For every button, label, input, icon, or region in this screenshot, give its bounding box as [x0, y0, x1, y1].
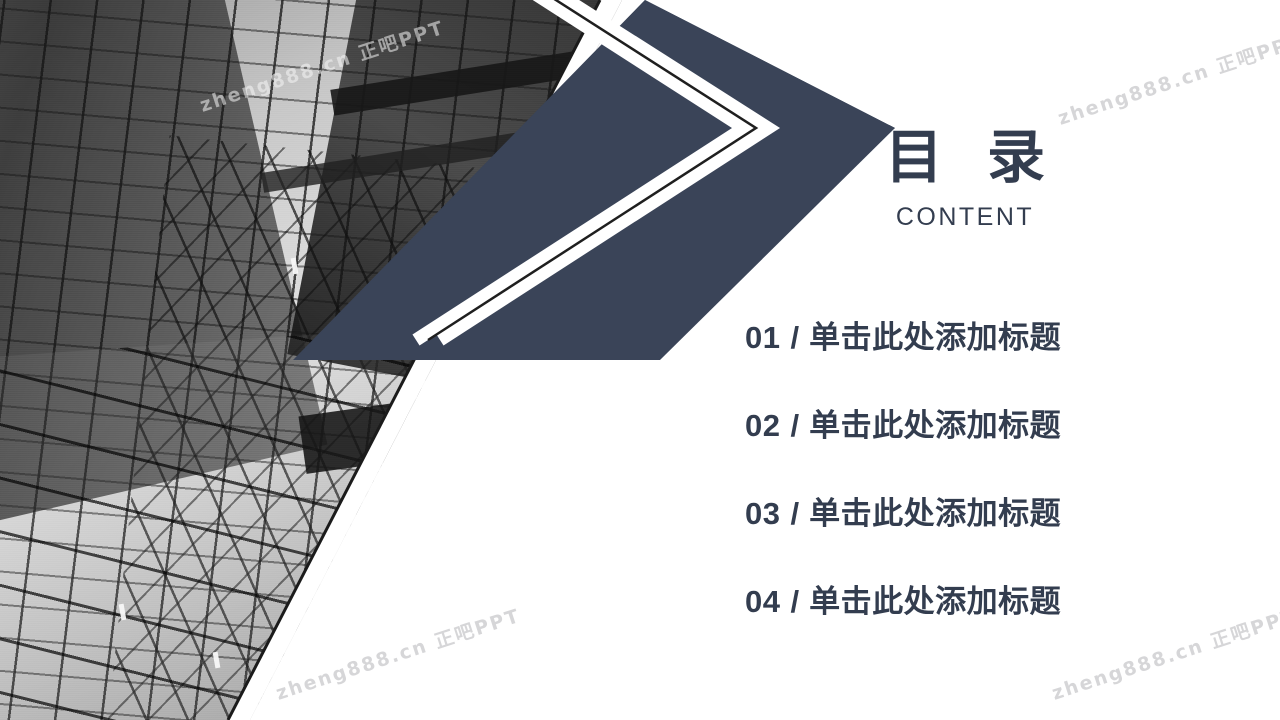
watermark: zheng888.cn 正吧PPT — [1054, 26, 1280, 131]
list-item[interactable]: 04 / 单击此处添加标题 — [745, 576, 1205, 664]
page-title-cn: 目 录 — [759, 128, 1185, 189]
watermark: zheng888.cn 正吧PPT — [272, 601, 524, 706]
toc-label: 单击此处添加标题 — [809, 576, 1061, 621]
toc-separator: / — [790, 408, 799, 444]
toc-number: 04 — [745, 584, 780, 620]
toc-number: 02 — [745, 408, 780, 444]
toc-separator: / — [790, 584, 799, 620]
toc-number: 03 — [745, 496, 780, 532]
list-item[interactable]: 01 / 单击此处添加标题 — [745, 312, 1205, 400]
toc-label: 单击此处添加标题 — [809, 312, 1061, 357]
photo-artwork — [0, 0, 700, 720]
toc-label: 单击此处添加标题 — [809, 488, 1061, 533]
list-item[interactable]: 02 / 单击此处添加标题 — [745, 400, 1205, 488]
toc-number: 01 — [745, 320, 780, 356]
photo-window-glint — [675, 604, 683, 621]
toc-label: 单击此处添加标题 — [809, 400, 1061, 445]
photo-grain-overlay — [0, 0, 700, 720]
heading-block: 目 录 CONTENT — [745, 128, 1185, 232]
toc-separator: / — [790, 320, 799, 356]
page-title-en: CONTENT — [745, 203, 1185, 232]
photo-window-glint — [377, 520, 385, 537]
list-item[interactable]: 03 / 单击此处添加标题 — [745, 488, 1205, 576]
table-of-contents: 01 / 单击此处添加标题 02 / 单击此处添加标题 03 / 单击此处添加标… — [745, 312, 1205, 664]
toc-separator: / — [790, 496, 799, 532]
presentation-slide: 目 录 CONTENT 01 / 单击此处添加标题 02 / 单击此处添加标题 … — [0, 0, 1280, 720]
